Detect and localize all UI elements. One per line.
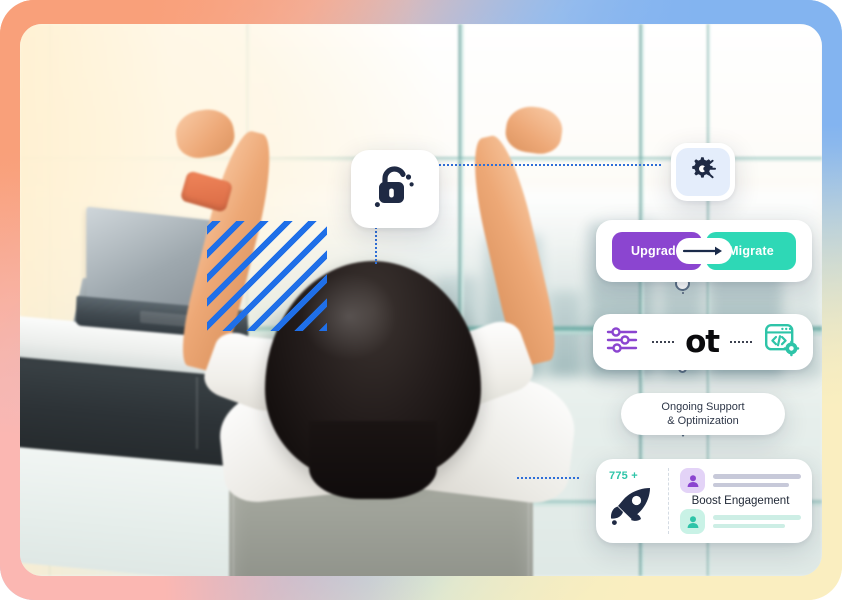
gradient-frame: Upgrade Migrate bbox=[0, 0, 842, 600]
user-avatar-icon bbox=[680, 509, 705, 534]
photo-stage: Upgrade Migrate bbox=[20, 24, 822, 576]
hatched-square-decoration bbox=[207, 221, 327, 331]
migrate-label: Migrate bbox=[728, 244, 774, 258]
card-boost-engagement[interactable]: 775 + bbox=[596, 459, 812, 543]
placeholder-bars bbox=[713, 474, 801, 487]
dash-separator-right bbox=[730, 341, 752, 343]
card-unlock[interactable] bbox=[351, 150, 439, 228]
open-lock-icon bbox=[374, 165, 416, 214]
boost-engagement-label: Boost Engagement bbox=[680, 494, 801, 508]
card-ot-brand[interactable]: ot bbox=[593, 314, 813, 370]
hair-lower bbox=[309, 421, 437, 498]
code-window-gear-icon bbox=[764, 323, 800, 362]
boost-count: 775 + bbox=[609, 470, 638, 482]
placeholder-bar bbox=[713, 515, 801, 520]
support-line-1: Ongoing Support bbox=[661, 400, 744, 414]
connector-lock-to-plugin bbox=[419, 164, 661, 166]
placeholder-bar bbox=[713, 483, 789, 488]
boost-rows: Boost Engagement bbox=[669, 468, 801, 534]
ot-wordmark: ot bbox=[685, 327, 719, 358]
placeholder-bar bbox=[713, 474, 801, 479]
rocket-icon bbox=[609, 486, 653, 531]
arrow-right-icon bbox=[676, 238, 732, 264]
user-avatar-icon bbox=[680, 468, 705, 493]
dash-separator-left bbox=[652, 341, 674, 343]
list-item bbox=[680, 509, 801, 534]
card-ongoing-support[interactable]: Ongoing Support & Optimization bbox=[621, 393, 785, 435]
placeholder-bar bbox=[713, 524, 785, 529]
sliders-settings-icon bbox=[606, 325, 640, 360]
card-upgrade-migrate[interactable]: Upgrade Migrate bbox=[596, 220, 812, 282]
support-line-2: & Optimization bbox=[667, 414, 739, 428]
plugin-gear-icon bbox=[688, 155, 718, 190]
boost-stats: 775 + bbox=[607, 468, 669, 534]
connector-left-to-boost bbox=[517, 477, 579, 479]
list-item bbox=[680, 468, 801, 493]
placeholder-bars bbox=[713, 515, 801, 528]
card-plugin[interactable] bbox=[671, 143, 735, 201]
plugin-icon-tile bbox=[676, 148, 730, 196]
